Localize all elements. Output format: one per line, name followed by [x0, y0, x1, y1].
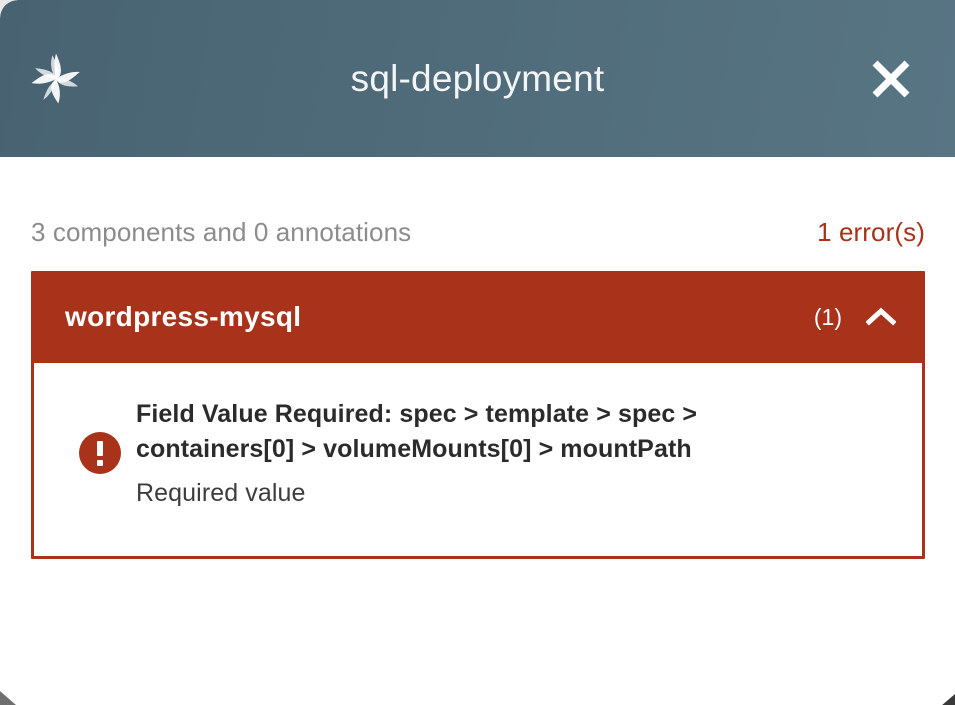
error-text-block: Field Value Required: spec > template > …: [136, 397, 892, 510]
pointer-artifact-right: [941, 693, 955, 705]
pointer-artifact-left: [0, 691, 16, 705]
error-item: Field Value Required: spec > template > …: [34, 363, 922, 556]
panel-header-wordpress-mysql[interactable]: wordpress-mysql (1): [31, 271, 925, 363]
resource-error-panel: wordpress-mysql (1): [31, 271, 925, 559]
panel-issue-count: (1): [814, 304, 842, 331]
dialog-body: 3 components and 0 annotations 1 error(s…: [0, 157, 955, 559]
app-root: sql-deployment 3 components and 0 annota…: [0, 0, 955, 705]
close-icon[interactable]: [864, 52, 918, 106]
error-count-label: 1 error(s): [817, 217, 925, 248]
components-summary-label: 3 components and 0 annotations: [31, 217, 411, 248]
error-exclamation-icon: [64, 432, 136, 474]
error-heading: Field Value Required: spec > template > …: [136, 397, 746, 466]
summary-row: 3 components and 0 annotations 1 error(s…: [0, 157, 955, 248]
dialog-titlebar: sql-deployment: [0, 0, 955, 157]
chevron-up-icon[interactable]: [864, 300, 898, 334]
dialog-title: sql-deployment: [0, 50, 955, 108]
error-detail: Required value: [136, 477, 892, 510]
sql-deployment-dialog: sql-deployment 3 components and 0 annota…: [0, 0, 955, 705]
panel-title: wordpress-mysql: [65, 301, 814, 333]
